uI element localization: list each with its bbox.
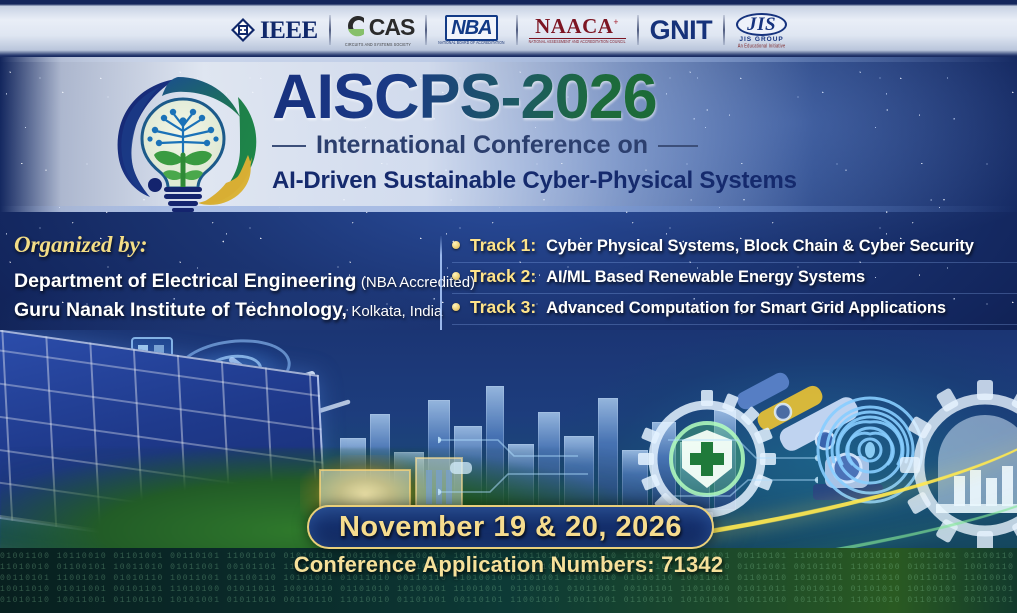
title-block: AISCPS-2026 International Conference on … — [272, 66, 832, 195]
sponsor-logo-naaca: NAACA+ NATIONAL ASSESSMENT AND ACCREDITA… — [518, 11, 637, 49]
conference-date-banner: November 19 & 20, 2026 — [307, 505, 714, 549]
organizer-label: Organized by: — [14, 232, 444, 258]
bullet-icon — [452, 272, 460, 280]
conference-title: AISCPS-2026 — [272, 66, 832, 129]
lightbulb-plant-circuit-emblem — [98, 63, 268, 213]
sponsor-subtext-naaca: NATIONAL ASSESSMENT AND ACCREDITATION CO… — [529, 40, 626, 44]
bullet-icon — [452, 241, 460, 249]
sponsor-label-ieee: IEEE — [260, 18, 318, 43]
sponsor-logo-bar: IEEE CAS CIRCUITS AND SYST — [0, 0, 1017, 57]
sponsor-logo-nba: NBA NATIONAL BOARD OF ACCREDITATION — [427, 11, 515, 49]
conference-subtitle: International Conference on — [316, 131, 648, 160]
sponsor-subtext-cas: CIRCUITS AND SYSTEMS SOCIETY — [345, 43, 411, 47]
organizer-department-line: Department of Electrical Engineering (NB… — [14, 270, 444, 293]
subtitle-rule-left — [272, 145, 306, 147]
track-label: Track 3: — [470, 297, 536, 318]
naaca-logo-icon: NAACA+ NATIONAL ASSESSMENT AND ACCREDITA… — [529, 16, 626, 44]
conference-theme: AI-Driven Sustainable Cyber-Physical Sys… — [272, 167, 832, 195]
gear-factory-icon — [898, 378, 1017, 553]
sponsor-logo-ieee: IEEE — [219, 11, 329, 49]
track-label: Track 2: — [470, 266, 536, 287]
sponsor-logo-gnit: GNIT — [639, 11, 724, 49]
track-text: Cyber Physical Systems, Block Chain & Cy… — [546, 237, 974, 256]
sponsor-logo-cas: CAS CIRCUITS AND SYSTEMS SOCIETY — [331, 11, 426, 49]
application-numbers: Conference Application Numbers: 71342 — [0, 552, 1017, 578]
organizer-location: Kolkata, India — [351, 303, 442, 320]
sponsor-logo-jis: JIS JIS GROUP An Educational Initiative — [725, 11, 798, 49]
track-item: Track 2: AI/ML Based Renewable Energy Sy… — [452, 263, 1017, 294]
sponsor-label-naaca: NAACA — [535, 14, 613, 38]
ieee-diamond-icon — [230, 17, 256, 43]
conference-subtitle-row: International Conference on — [272, 131, 832, 160]
sponsor-label-nba: NBA — [451, 17, 491, 39]
conference-date: November 19 & 20, 2026 — [339, 511, 682, 544]
organizer-department: Department of Electrical Engineering — [14, 270, 356, 292]
organizer-institute: Guru Nanak Institute of Technology, — [14, 299, 347, 321]
track-text: AI/ML Based Renewable Energy Systems — [546, 268, 865, 287]
bullet-icon — [452, 303, 460, 311]
track-item: Track 3: Advanced Computation for Smart … — [452, 294, 1017, 325]
gnit-logo-icon: GNIT — [650, 15, 713, 46]
nba-logo-icon: NBA NATIONAL BOARD OF ACCREDITATION — [438, 15, 504, 45]
cas-logo-icon — [342, 13, 368, 43]
conference-poster: IEEE CAS CIRCUITS AND SYST — [0, 0, 1017, 613]
sponsor-label-jis: JIS — [747, 14, 776, 35]
organizer-block: Organized by: Department of Electrical E… — [14, 232, 444, 328]
track-item: Track 1: Cyber Physical Systems, Block C… — [452, 232, 1017, 263]
sponsor-subtext-jis: An Educational Initiative — [738, 43, 786, 48]
sponsor-subtext-nba: NATIONAL BOARD OF ACCREDITATION — [438, 41, 504, 45]
subtitle-rule-right — [658, 145, 698, 147]
track-label: Track 1: — [470, 235, 536, 256]
sponsor-label-cas: CAS — [369, 16, 415, 39]
jis-logo-icon: JIS JIS GROUP An Educational Initiative — [736, 13, 787, 48]
organizer-institute-line: Guru Nanak Institute of Technology, Kolk… — [14, 299, 444, 322]
track-text: Advanced Computation for Smart Grid Appl… — [546, 299, 946, 318]
sponsor-label-gnit: GNIT — [650, 15, 713, 45]
